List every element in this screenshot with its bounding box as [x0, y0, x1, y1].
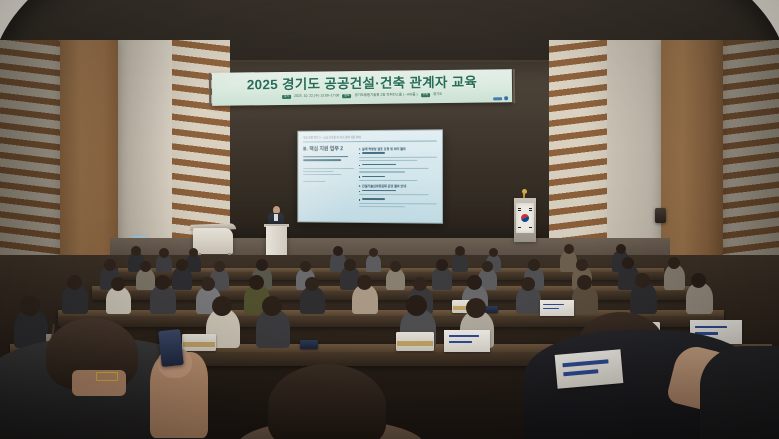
- flag-stand: [514, 198, 536, 242]
- slide-text-line: [359, 194, 429, 195]
- attendee-head: [455, 246, 465, 256]
- attendee-head: [635, 273, 650, 288]
- attendee-head: [214, 261, 225, 272]
- printed-handout: [555, 349, 624, 389]
- slide-header: 핵심 지원 업무 2 – 공공 건축물 인·허가 관련 사항 안내: [303, 134, 437, 142]
- smartphone: [484, 306, 498, 313]
- attendee-head: [111, 277, 125, 291]
- slide-text-line: [359, 160, 417, 161]
- attendee-head: [140, 261, 151, 272]
- attendee-head: [390, 261, 401, 272]
- attendee-head: [467, 275, 482, 290]
- event-banner: 2025 경기도 공공건설·건축 관계자 교육 일시 2025. 10. 22.…: [212, 69, 512, 106]
- slide-text-line: [359, 180, 417, 181]
- attendee-head: [521, 277, 535, 291]
- attendee-head: [300, 261, 311, 272]
- taegukgi-flag-icon: [516, 203, 534, 233]
- slide-text-line: [303, 174, 341, 175]
- attendee-head: [176, 259, 188, 271]
- slide-left-column: Ⅲ. 핵심 지원 업무 2: [303, 145, 354, 210]
- slide-text-line: [359, 206, 406, 207]
- attendee-head: [564, 244, 574, 254]
- slide-heading: Ⅲ. 핵심 지원 업무 2: [303, 145, 354, 152]
- banner-chip-host: 주최: [421, 93, 430, 97]
- taeguk-circle-icon: [520, 213, 531, 224]
- slide-text-line: [303, 156, 348, 158]
- lunch-box: [182, 334, 216, 351]
- attendee-head: [333, 246, 343, 256]
- attendee-head: [256, 259, 268, 271]
- attendee-head: [305, 277, 319, 291]
- attendee-head: [131, 246, 141, 256]
- smartphone: [300, 340, 318, 349]
- banner-pole-left: [209, 73, 211, 107]
- slide-section-2: 2. 건설기술심의위원회 운영 절차 안내: [359, 184, 437, 188]
- attendee-head: [668, 257, 680, 269]
- attendee-head: [357, 275, 372, 290]
- attendee-head: [622, 257, 634, 269]
- sponsor-logo-icon: [493, 97, 502, 100]
- banner-chip-date: 일시: [282, 95, 291, 99]
- attendee-head: [212, 296, 232, 316]
- banner-chip-venue: 장소: [342, 94, 351, 98]
- attendee-head: [406, 295, 427, 316]
- banner-subtitle: 일시 2025. 10. 22.(수) 13:00~17:00 장소 경기도융합…: [282, 93, 443, 99]
- printed-handout: [540, 300, 574, 316]
- attendee-head: [67, 275, 82, 290]
- attendee-head: [155, 275, 170, 290]
- attendee-head: [616, 244, 626, 254]
- attendee-head: [576, 259, 588, 271]
- lectern: [266, 226, 287, 256]
- attendee-head: [482, 261, 493, 272]
- slide-text-line: [359, 171, 406, 172]
- attendee-head: [577, 275, 592, 290]
- slide-section-1: 1. 설계 적정성 검토 요청 및 처리 절차: [359, 146, 437, 151]
- slide-right-column: 1. 설계 적정성 검토 요청 및 처리 절차: [359, 144, 437, 211]
- banner-venue: 경기도융합기술원 2층 컨퍼런스홀 ( ~A/B홀 ): [355, 93, 418, 98]
- foreground-smartphone: [158, 329, 184, 367]
- attendee-head: [104, 259, 116, 271]
- slide-text-line: [303, 181, 326, 182]
- lunch-box: [396, 332, 434, 351]
- attendee-head: [369, 248, 378, 257]
- projected-slide: 핵심 지원 업무 2 – 공공 건축물 인·허가 관련 사항 안내 Ⅲ. 핵심 …: [298, 130, 442, 222]
- attendee-head: [344, 259, 356, 271]
- slide-text-line: [359, 156, 437, 157]
- attendee-head: [159, 248, 169, 258]
- attendee-head: [436, 259, 448, 271]
- attendee-head: [262, 296, 282, 316]
- slide-text-line: [303, 159, 341, 161]
- slide-text-line: [359, 203, 437, 205]
- slide-text-line: [303, 171, 333, 172]
- national-geographic-logo-icon: [96, 372, 118, 381]
- slide-text-line: [303, 168, 354, 169]
- attendee-head: [201, 277, 215, 291]
- slide-text-line: [359, 168, 429, 169]
- attendee-head: [413, 277, 427, 291]
- banner-host: 경기도: [433, 93, 442, 97]
- banner-title: 2025 경기도 공공건설·건축 관계자 교육: [247, 76, 477, 92]
- banner-date: 2025. 10. 22.(수) 13:00~17:00: [294, 94, 339, 98]
- attendee-head: [489, 248, 498, 257]
- banner-logo-group: [493, 96, 508, 100]
- attendee-head: [528, 259, 540, 271]
- auditorium-photo: 2025 경기도 공공건설·건축 관계자 교육 일시 2025. 10. 22.…: [0, 0, 779, 439]
- attendee-head: [466, 298, 486, 318]
- printed-handout: [444, 330, 490, 352]
- banner-pole-right: [513, 69, 515, 103]
- sponsor-logo-icon: [504, 96, 508, 100]
- attendee-head: [20, 296, 40, 316]
- grand-piano: [193, 228, 233, 254]
- foreground-person-far-right: [700, 346, 779, 439]
- attendee-head: [249, 275, 264, 290]
- attendee-head: [691, 273, 706, 288]
- projection-screen: 핵심 지원 업무 2 – 공공 건축물 인·허가 관련 사항 안내 Ⅲ. 핵심 …: [297, 129, 443, 224]
- attendee-head: [189, 248, 198, 257]
- presenter-shirt: [274, 214, 278, 221]
